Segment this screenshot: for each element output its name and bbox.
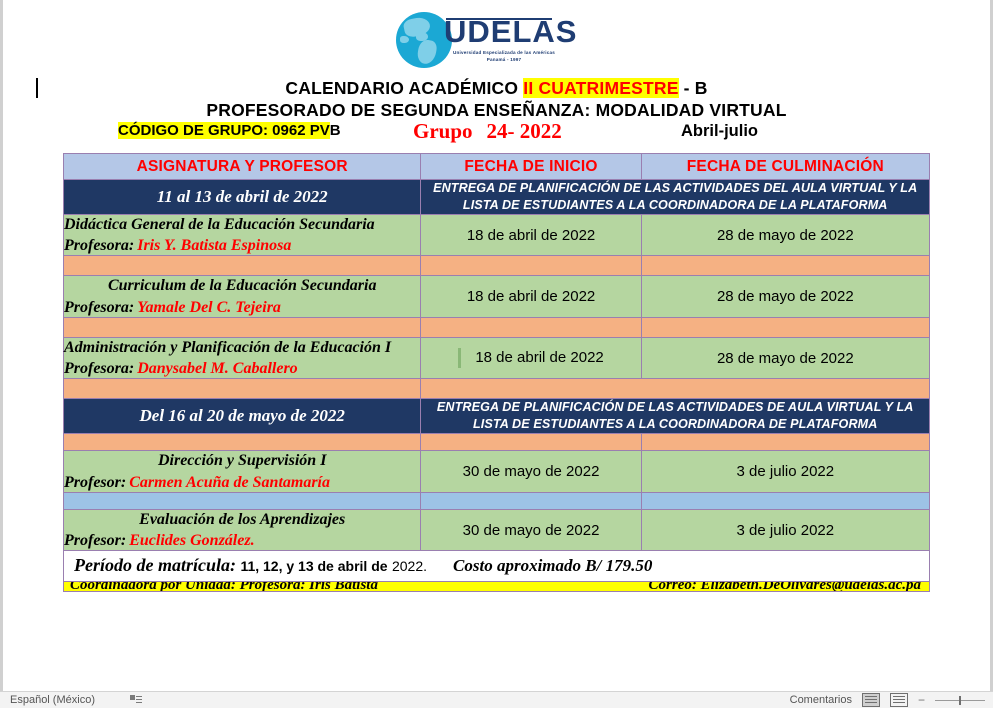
status-bar: Español (México) Comentarios − bbox=[0, 691, 993, 708]
table-header-row: ASIGNATURA Y PROFESOR FECHA DE INICIO FE… bbox=[64, 154, 930, 180]
spacer-row bbox=[64, 256, 930, 276]
course-professor: Profesor:Carmen Acuña de Santamaría bbox=[64, 474, 420, 492]
title-highlight: II CUATRIMESTRE bbox=[523, 78, 678, 98]
start-date: 18 de abril de 2022 bbox=[421, 215, 641, 256]
zoom-out-button[interactable]: − bbox=[918, 694, 925, 706]
spacer-cell bbox=[64, 492, 421, 509]
table-row: Del 16 al 20 de mayo de 2022 ENTREGA DE … bbox=[64, 399, 930, 434]
table-row: Período de matrícula: 11, 12, y 13 de ab… bbox=[64, 551, 930, 582]
column-header-inicio: FECHA DE INICIO bbox=[421, 154, 641, 180]
spacer-cell bbox=[421, 317, 641, 337]
group-number: 24- 2022 bbox=[487, 119, 562, 143]
end-date: 28 de mayo de 2022 bbox=[641, 215, 929, 256]
logo-subtitle-line2: Panamá - 1997 bbox=[444, 57, 564, 64]
professor-name: Euclides González. bbox=[129, 532, 254, 549]
banner-date: 11 al 13 de abril de 2022 bbox=[64, 180, 421, 215]
zoom-slider[interactable] bbox=[935, 700, 985, 701]
logo-wordmark: UDELAS bbox=[444, 16, 577, 47]
professor-label: Profesor: bbox=[64, 532, 126, 549]
professor-label: Profesora: bbox=[64, 299, 134, 316]
matricula-year: 2022. bbox=[392, 558, 427, 574]
spacer-row bbox=[64, 434, 930, 451]
group-code-highlight: CÓDIGO DE GRUPO: 0962 PV bbox=[118, 122, 330, 139]
spacer-row bbox=[64, 492, 930, 509]
end-date: 3 de julio 2022 bbox=[641, 451, 929, 492]
spacer-cell bbox=[421, 256, 641, 276]
professor-name: Carmen Acuña de Santamaría bbox=[129, 474, 330, 491]
course-name: Didáctica General de la Educación Secund… bbox=[64, 215, 420, 235]
matricula-label: Período de matrícula: bbox=[74, 555, 236, 575]
coordinator-text: Coordinadora por Unidad: Profesora: Iris… bbox=[70, 582, 378, 592]
column-header-culminacion: FECHA DE CULMINACIÓN bbox=[641, 154, 929, 180]
table-row: Curriculum de la Educación Secundaria Pr… bbox=[64, 276, 930, 317]
column-header-asignatura: ASIGNATURA Y PROFESOR bbox=[64, 154, 421, 180]
comments-label[interactable]: Comentarios bbox=[790, 694, 852, 706]
language-status[interactable]: Español (México) bbox=[10, 694, 95, 706]
title-prefix: CALENDARIO ACADÉMICO bbox=[285, 78, 523, 98]
table-row: 11 al 13 de abril de 2022 ENTREGA DE PLA… bbox=[64, 180, 930, 215]
logo-underline bbox=[446, 18, 552, 20]
group-code-tail: B bbox=[330, 122, 341, 139]
course-professor: Profesor:Euclides González. bbox=[64, 532, 420, 550]
matricula-dates: 11, 12, y 13 de abril de bbox=[240, 558, 387, 574]
banner-date: Del 16 al 20 de mayo de 2022 bbox=[64, 399, 421, 434]
course-professor: Profesora:Yamale Del C. Tejeira bbox=[64, 299, 420, 317]
course-cell: Dirección y Supervisión I Profesor:Carme… bbox=[64, 451, 421, 492]
spacer-cell bbox=[421, 434, 641, 451]
group-label-block: Grupo24- 2022 bbox=[413, 119, 562, 144]
start-date-text: 18 de abril de 2022 bbox=[475, 349, 603, 366]
spacer-cell bbox=[421, 492, 641, 509]
read-view-icon[interactable] bbox=[862, 693, 880, 707]
spacer-cell bbox=[641, 317, 929, 337]
professor-name: Danysabel M. Caballero bbox=[137, 360, 297, 377]
matricula-cell: Período de matrícula: 11, 12, y 13 de ab… bbox=[64, 551, 930, 582]
course-name: Evaluación de los Aprendizajes bbox=[64, 510, 420, 530]
professor-label: Profesora: bbox=[64, 360, 134, 377]
course-professor: Profesora:Danysabel M. Caballero bbox=[64, 360, 420, 378]
matricula-cost: Costo aproximado B/ 179.50 bbox=[453, 556, 652, 575]
start-date: 30 de mayo de 2022 bbox=[421, 451, 641, 492]
group-info-row: CÓDIGO DE GRUPO: 0962 PVB Grupo24- 2022 … bbox=[0, 122, 993, 148]
table-row: Didáctica General de la Educación Secund… bbox=[64, 215, 930, 256]
coordinator-cell: Coordinadora por Unidad: Profesora: Iris… bbox=[64, 582, 930, 592]
spacer-row bbox=[64, 379, 930, 399]
spacer-cell bbox=[641, 434, 929, 451]
table-row: Dirección y Supervisión I Profesor:Carme… bbox=[64, 451, 930, 492]
banner-text: ENTREGA DE PLANIFICACIÓN DE LAS ACTIVIDA… bbox=[421, 399, 930, 434]
logo-subtitle: Universidad Especializada de las América… bbox=[444, 50, 564, 64]
course-cell: Administración y Planificación de la Edu… bbox=[64, 337, 421, 378]
spacer-cell bbox=[64, 434, 421, 451]
end-date: 28 de mayo de 2022 bbox=[641, 276, 929, 317]
professor-name: Iris Y. Batista Espinosa bbox=[137, 237, 291, 254]
end-date: 3 de julio 2022 bbox=[641, 509, 929, 550]
title-line-2: PROFESORADO DE SEGUNDA ENSEÑANZA: MODALI… bbox=[0, 100, 993, 121]
calendar-table: ASIGNATURA Y PROFESOR FECHA DE INICIO FE… bbox=[63, 153, 930, 592]
professor-label: Profesor: bbox=[64, 474, 126, 491]
start-date: 18 de abril de 2022 bbox=[421, 276, 641, 317]
spacer-cell bbox=[64, 379, 421, 399]
course-cell: Didáctica General de la Educación Secund… bbox=[64, 215, 421, 256]
table-row: Evaluación de los Aprendizajes Profesor:… bbox=[64, 509, 930, 550]
accessibility-icon[interactable] bbox=[130, 695, 142, 705]
start-date: 30 de mayo de 2022 bbox=[421, 509, 641, 550]
spacer-row bbox=[64, 317, 930, 337]
spacer-cell bbox=[641, 492, 929, 509]
table-row: Coordinadora por Unidad: Profesora: Iris… bbox=[64, 582, 930, 592]
status-bar-right: Comentarios − bbox=[790, 693, 985, 707]
course-professor: Profesora:Iris Y. Batista Espinosa bbox=[64, 237, 420, 255]
course-name: Dirección y Supervisión I bbox=[64, 451, 420, 471]
professor-label: Profesora: bbox=[64, 237, 134, 254]
professor-name: Yamale Del C. Tejeira bbox=[137, 299, 281, 316]
group-label: Grupo bbox=[413, 119, 473, 143]
course-cell: Evaluación de los Aprendizajes Profesor:… bbox=[64, 509, 421, 550]
cursor-tick-icon bbox=[458, 348, 461, 368]
print-view-icon[interactable] bbox=[890, 693, 908, 707]
table-row: Administración y Planificación de la Edu… bbox=[64, 337, 930, 378]
title-line-1: CALENDARIO ACADÉMICO II CUATRIMESTRE - B bbox=[0, 78, 993, 99]
banner-text: ENTREGA DE PLANIFICACIÓN DE LAS ACTIVIDA… bbox=[421, 180, 930, 215]
course-name: Curriculum de la Educación Secundaria bbox=[64, 276, 420, 296]
spacer-cell bbox=[64, 256, 421, 276]
course-cell: Curriculum de la Educación Secundaria Pr… bbox=[64, 276, 421, 317]
end-date: 28 de mayo de 2022 bbox=[641, 337, 929, 378]
spacer-cell bbox=[421, 379, 930, 399]
title-suffix: - B bbox=[679, 78, 708, 98]
logo-subtitle-line1: Universidad Especializada de las América… bbox=[444, 50, 564, 57]
document-page: UDELAS Universidad Especializada de las … bbox=[0, 0, 993, 708]
start-date: 18 de abril de 2022 bbox=[421, 337, 641, 378]
term-period: Abril-julio bbox=[681, 122, 758, 141]
spacer-cell bbox=[641, 256, 929, 276]
coordinator-email: Correo: Elizabeth.DeOlivares@udelas.ac.p… bbox=[649, 582, 921, 592]
group-code: CÓDIGO DE GRUPO: 0962 PVB bbox=[118, 122, 341, 139]
spacer-cell bbox=[64, 317, 421, 337]
course-name: Administración y Planificación de la Edu… bbox=[64, 338, 420, 358]
udelas-logo: UDELAS Universidad Especializada de las … bbox=[396, 8, 596, 70]
